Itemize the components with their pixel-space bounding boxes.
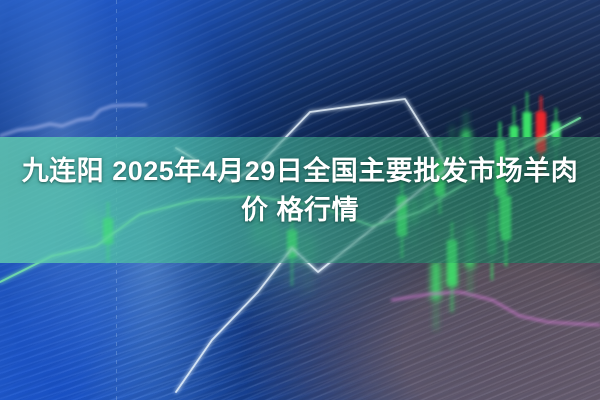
page-title-line-2: 格行情 (277, 195, 360, 225)
cover-image: 九连阳 2025年4月29日全国主要批发市场羊肉价 格行情 (0, 0, 600, 400)
page-title: 九连阳 2025年4月29日全国主要批发市场羊肉价 格行情 (0, 152, 600, 230)
